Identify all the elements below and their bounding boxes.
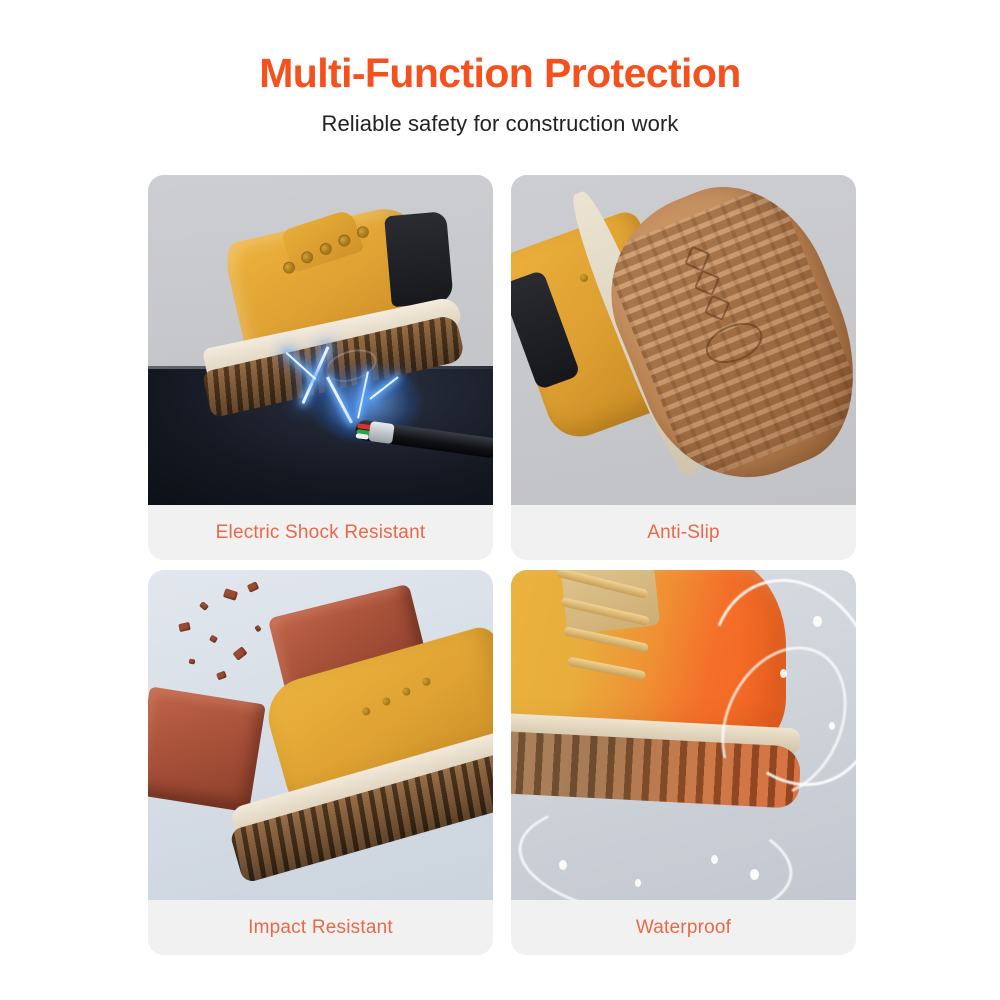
feature-image-impact-resistant <box>148 570 493 900</box>
feature-caption-anti-slip: Anti-Slip <box>511 505 856 560</box>
brick-debris <box>223 588 238 601</box>
tread-lug-icon <box>704 295 730 321</box>
feature-image-waterproof <box>511 570 856 900</box>
brick-debris <box>199 601 209 611</box>
brick-debris <box>178 622 190 632</box>
tread-lug-icon <box>684 246 710 272</box>
brick-debris <box>216 671 227 681</box>
boot-heel-collar <box>385 210 455 306</box>
water-droplet <box>813 616 822 627</box>
product-feature-page: Multi-Function Protection Reliable safet… <box>0 0 1000 1000</box>
brick-debris <box>209 635 218 644</box>
page-subtitle: Reliable safety for construction work <box>0 111 1000 137</box>
work-boot <box>194 624 493 900</box>
feature-card-anti-slip[interactable]: Anti-Slip <box>511 175 856 560</box>
brick-debris <box>189 659 196 665</box>
feature-grid: Electric Shock Resistant Anti-Slip <box>148 175 856 955</box>
feature-image-electric-shock-resistant <box>148 175 493 505</box>
brick-debris <box>254 625 262 633</box>
outsole-brand-emboss <box>700 316 769 372</box>
feature-card-electric-shock-resistant[interactable]: Electric Shock Resistant <box>148 175 493 560</box>
brick-debris <box>233 646 248 660</box>
water-droplet <box>711 855 718 864</box>
page-title: Multi-Function Protection <box>0 52 1000 95</box>
feature-image-anti-slip <box>511 175 856 505</box>
tread-lug-icon <box>694 270 720 296</box>
cable-ferrule <box>369 421 395 444</box>
brick-debris <box>247 581 259 592</box>
water-droplet <box>780 669 787 678</box>
page-header: Multi-Function Protection Reliable safet… <box>0 0 1000 137</box>
feature-caption-waterproof: Waterproof <box>511 900 856 955</box>
feature-card-impact-resistant[interactable]: Impact Resistant <box>148 570 493 955</box>
lace-eyelet-icon <box>580 274 588 282</box>
feature-card-waterproof[interactable]: Waterproof <box>511 570 856 955</box>
feature-caption-impact-resistant: Impact Resistant <box>148 900 493 955</box>
feature-caption-electric-shock-resistant: Electric Shock Resistant <box>148 505 493 560</box>
